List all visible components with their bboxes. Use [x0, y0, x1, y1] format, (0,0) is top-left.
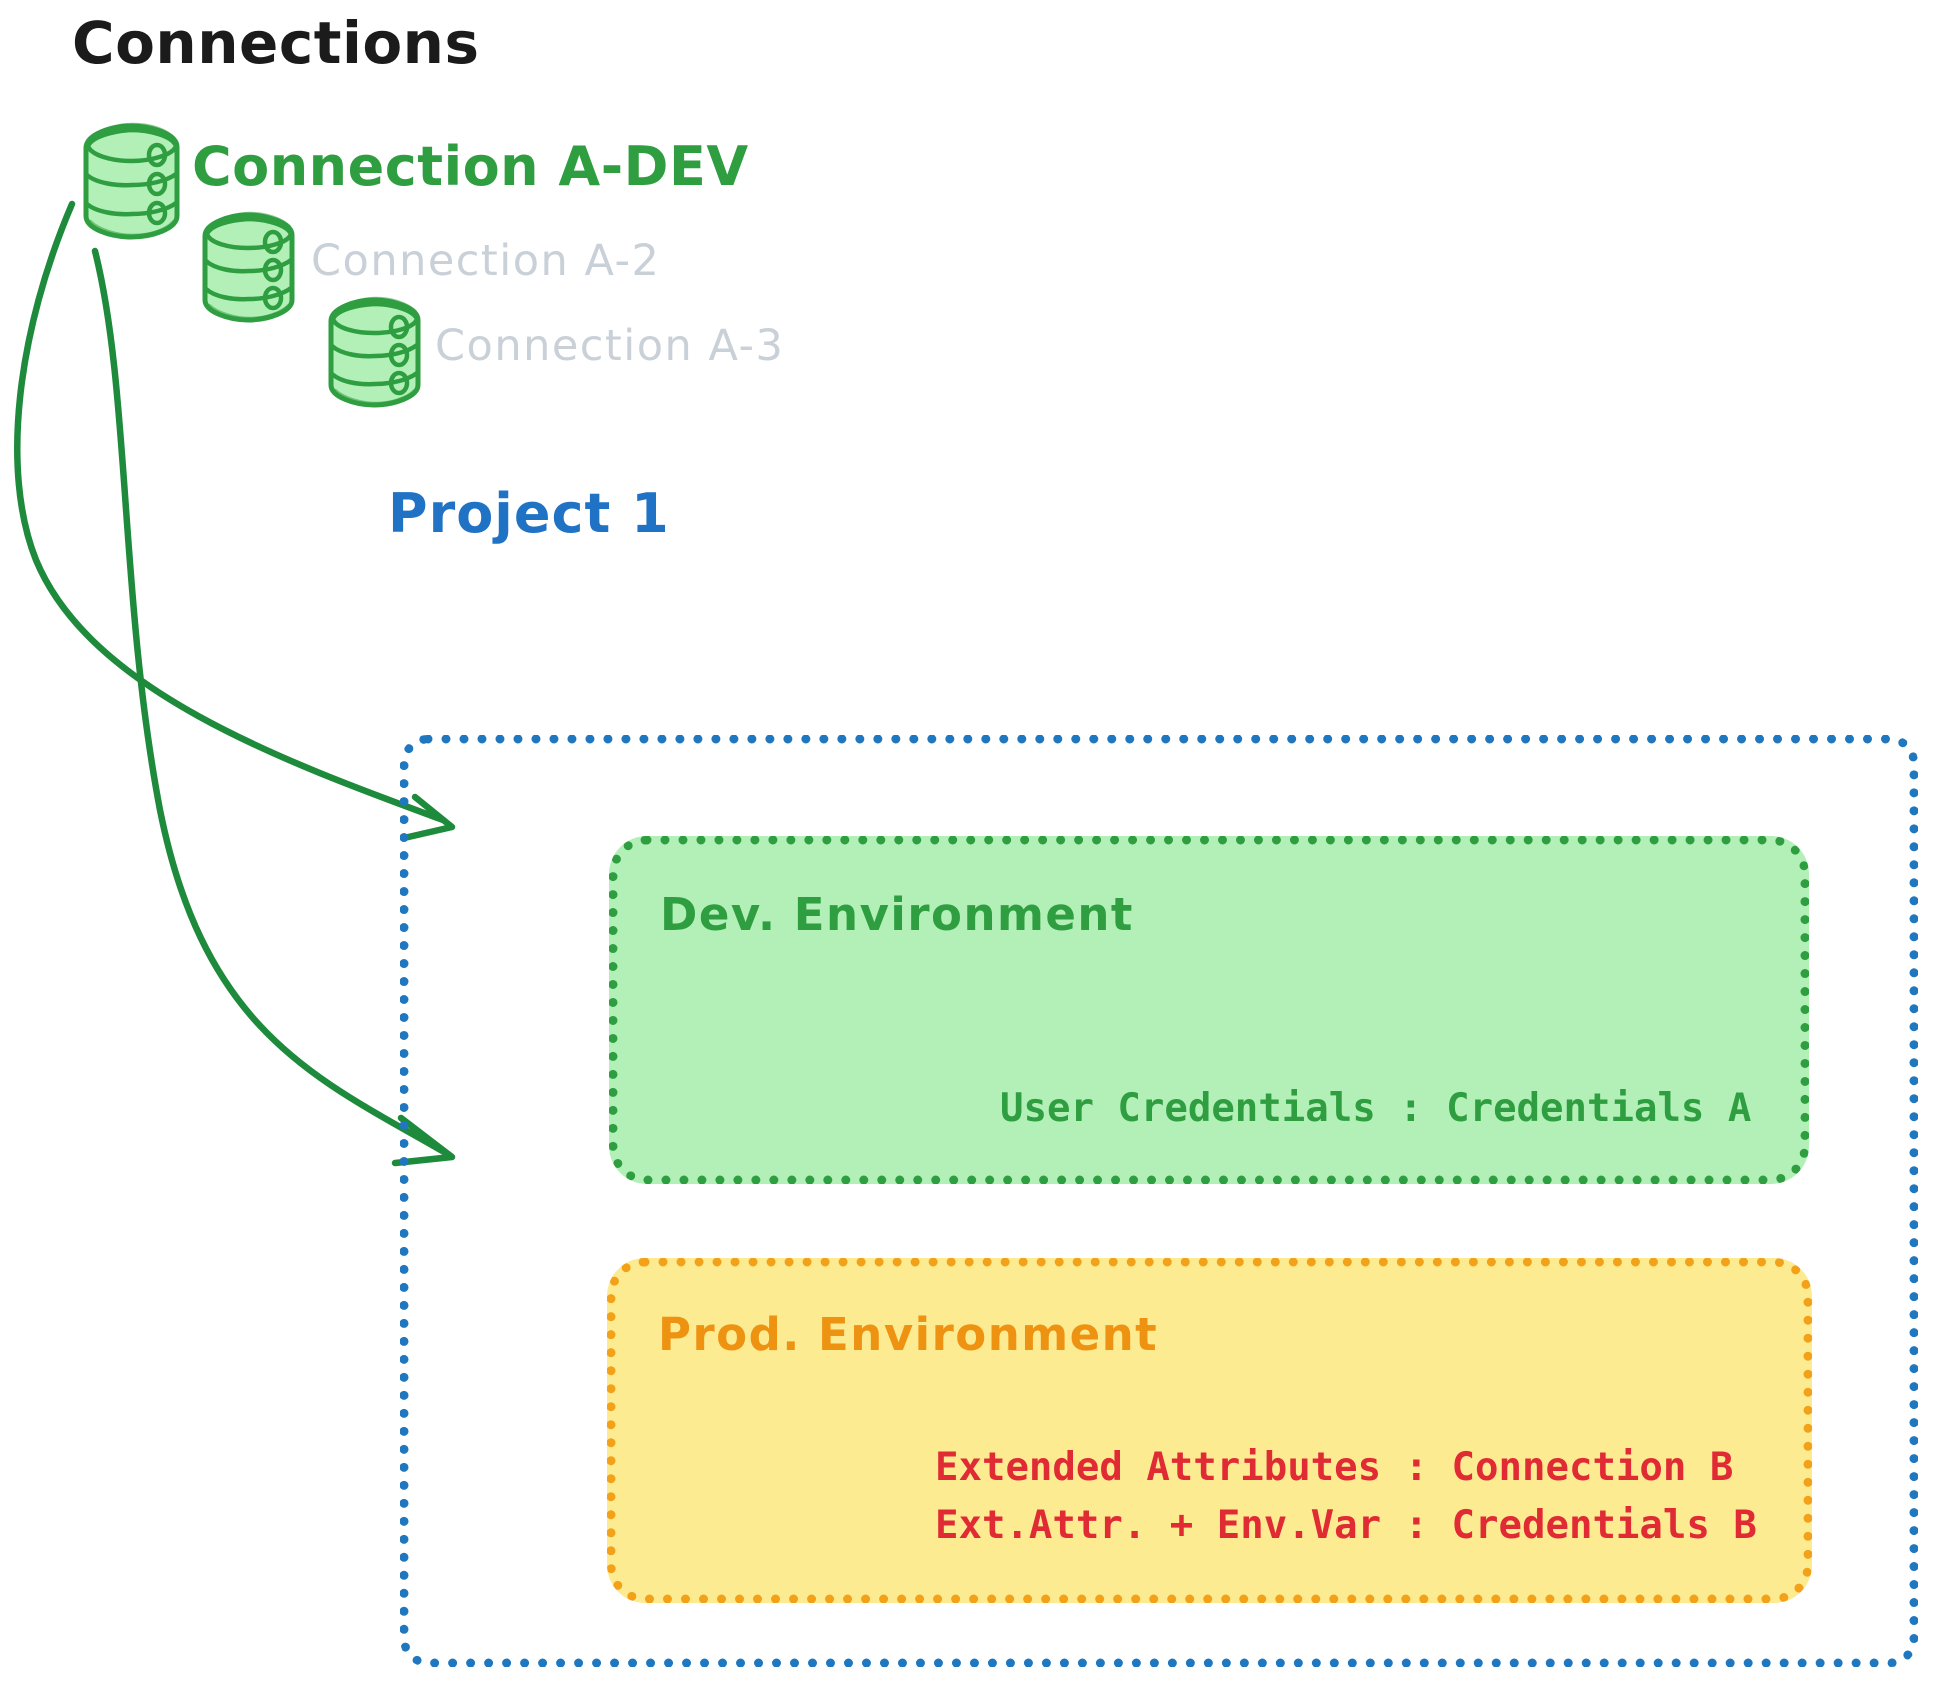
- dev-environment-title: Dev. Environment: [660, 892, 1134, 937]
- prod-environment-row-extended-attributes: Extended Attributes : Connection B: [935, 1448, 1733, 1487]
- connection-label-a-2[interactable]: Connection A-2: [311, 240, 660, 283]
- connection-label-a-dev[interactable]: Connection A-DEV: [192, 140, 749, 194]
- project-title: Project 1: [388, 487, 670, 541]
- connection-label-a-3[interactable]: Connection A-3: [435, 325, 784, 368]
- arrow-connection-to-prod-environment: [95, 251, 452, 1163]
- database-icon-connection-a-3[interactable]: [331, 299, 418, 405]
- diagram-canvas: .db-fill { fill: #b2f0b8; } .db-line { f…: [0, 0, 1938, 1691]
- prod-environment-title: Prod. Environment: [658, 1312, 1158, 1357]
- arrow-connection-to-dev-environment: [17, 204, 452, 838]
- prod-environment-row-ext-attr-env-var: Ext.Attr. + Env.Var : Credentials B: [935, 1506, 1757, 1545]
- database-icon-connection-a-dev[interactable]: [86, 125, 177, 237]
- database-icon-connection-a-2[interactable]: [205, 214, 292, 320]
- page-title: Connections: [72, 14, 479, 72]
- dev-environment-row-credentials: User Credentials : Credentials A: [1000, 1089, 1751, 1128]
